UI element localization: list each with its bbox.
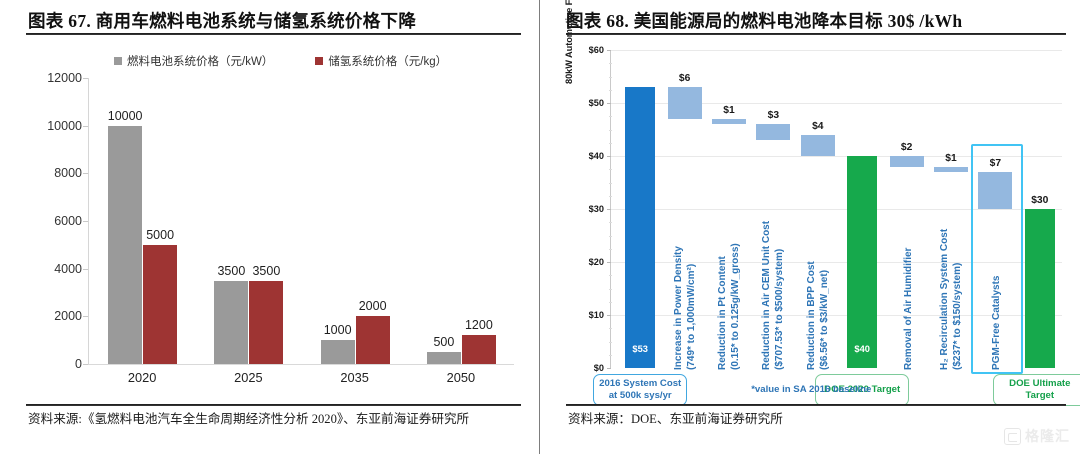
waterfall-footer-box: 2016 System Cost at 500k sys/yr — [593, 374, 687, 406]
bar-value-label: 500 — [433, 335, 454, 349]
y-tick-mark-67 — [83, 364, 88, 365]
legend-swatch-fuelcell — [114, 57, 122, 65]
y-minor-tick-68 — [609, 77, 612, 78]
y-tick-label-68: $50 — [566, 98, 604, 108]
step-description-line1: H₂ Recirculation System Cost — [939, 229, 950, 370]
y-axis-title-68: 80kW Automotive Fuel Cell System Cost [$… — [564, 0, 577, 84]
y-tick-mark-67 — [83, 269, 88, 270]
y-tick-label-67: 10000 — [47, 119, 82, 133]
bar: 3500 — [249, 281, 283, 364]
bar-value-label: 2000 — [359, 299, 387, 313]
left-title-rule — [26, 33, 521, 35]
bar-value-label: 1200 — [465, 318, 493, 332]
y-tick-label-67: 4000 — [54, 262, 82, 276]
y-minor-tick-68 — [609, 249, 612, 250]
bar: 2000 — [356, 316, 390, 364]
bar: 1000 — [321, 340, 355, 364]
waterfall-total-bar: $40 — [847, 156, 877, 368]
chart-68: 80kW Automotive Fuel Cell System Cost [$… — [566, 40, 1066, 400]
waterfall-value-label: $6 — [679, 73, 690, 84]
y-tick-mark-68 — [607, 368, 611, 369]
waterfall-step-bar: $1 — [712, 119, 746, 124]
y-tick-mark-67 — [83, 78, 88, 79]
waterfall-step-bar: $1 — [934, 167, 968, 172]
bar-value-label: 5000 — [146, 228, 174, 242]
bar-value-label: 3500 — [217, 264, 245, 278]
step-description-line2: ($237* to $150/system) — [952, 176, 965, 370]
bar-group: 10002000 — [321, 78, 390, 364]
bar-value-label: 3500 — [252, 264, 280, 278]
y-tick-label-67: 6000 — [54, 214, 82, 228]
bar: 5000 — [143, 245, 177, 364]
waterfall-step-bar: $3 — [756, 124, 790, 140]
y-tick-label-68: $40 — [566, 151, 604, 161]
step-description-line1: Increase in Power Density — [673, 246, 684, 370]
y-tick-mark-68 — [607, 262, 611, 263]
y-minor-tick-68 — [609, 328, 612, 329]
right-panel: 图表 68. 美国能源局的燃料电池降本目标 30$ /kWh 80kW Auto… — [540, 0, 1080, 454]
y-tick-label-67: 8000 — [54, 166, 82, 180]
right-footer-rule — [566, 404, 1066, 406]
legend-item-fuelcell: 燃料电池系统价格（元/kW） — [114, 53, 273, 69]
right-title-rule — [566, 33, 1066, 35]
y-tick-mark-67 — [83, 126, 88, 127]
step-description-line1: Removal of Air Humidifier — [903, 248, 914, 370]
y-tick-mark-68 — [607, 156, 611, 157]
y-minor-tick-68 — [609, 183, 612, 184]
bar: 3500 — [214, 281, 248, 364]
step-description-line2: ($6.56* to $3/kW_net) — [818, 160, 831, 370]
chart-67: 燃料电池系统价格（元/kW） 储氢系统价格（元/kg） 020004000600… — [26, 45, 526, 395]
step-description-line2: (0.15* to 0.125g/kW_gross) — [730, 128, 743, 370]
waterfall-total-bar: $53 — [625, 87, 655, 368]
waterfall-step-bar: $6 — [668, 87, 702, 119]
y-axis-line-67 — [88, 78, 89, 364]
left-footer-rule — [26, 404, 521, 406]
y-tick-mark-68 — [607, 209, 611, 210]
waterfall-step-bar: $2 — [890, 156, 924, 167]
legend-swatch-hydrogen — [315, 57, 323, 65]
y-minor-tick-68 — [609, 302, 612, 303]
y-minor-tick-68 — [609, 90, 612, 91]
watermark: 格隆汇 — [1004, 426, 1070, 446]
y-minor-tick-68 — [609, 236, 612, 237]
y-minor-tick-68 — [609, 143, 612, 144]
bar-group: 100005000 — [108, 78, 177, 364]
y-tick-label-68: $10 — [566, 310, 604, 320]
y-minor-tick-68 — [609, 116, 612, 117]
x-tick-label-67: 2035 — [340, 370, 368, 385]
y-minor-tick-68 — [609, 222, 612, 223]
y-tick-mark-67 — [83, 316, 88, 317]
bar-group: 5001200 — [427, 78, 496, 364]
y-tick-mark-68 — [607, 315, 611, 316]
left-chart-title: 图表 67. 商用车燃料电池系统与储氢系统价格下降 — [28, 8, 416, 33]
y-minor-tick-68 — [609, 169, 612, 170]
waterfall-total-bar: $30 — [1025, 209, 1055, 368]
y-tick-mark-68 — [607, 103, 611, 104]
waterfall-value-label: $30 — [1031, 195, 1048, 206]
y-minor-tick-68 — [609, 342, 612, 343]
watermark-logo-icon — [1004, 428, 1021, 445]
waterfall-value-label: $3 — [768, 110, 779, 121]
baseline-note-68: *value in SA 2016 baseline — [751, 384, 871, 395]
x-tick-label-67: 2025 — [234, 370, 262, 385]
step-description-line1: Reduction in Air CEM Unit Cost — [761, 221, 772, 370]
y-tick-mark-68 — [607, 50, 611, 51]
bar-value-label: 10000 — [108, 109, 143, 123]
waterfall-step-description: H₂ Recirculation System Cost($237* to $1… — [939, 176, 964, 370]
y-minor-tick-68 — [609, 63, 612, 64]
y-tick-label-67: 12000 — [47, 71, 82, 85]
bar: 10000 — [108, 126, 142, 364]
bar: 500 — [427, 352, 461, 364]
y-minor-tick-68 — [609, 289, 612, 290]
y-tick-mark-67 — [83, 173, 88, 174]
right-source-note: 资料来源：DOE、东亚前海证券研究所 — [568, 410, 1056, 430]
gridline-68 — [610, 50, 1062, 51]
legend-label-hydrogen: 储氢系统价格（元/kg） — [328, 53, 447, 69]
step-description-line1: Reduction in Pt Content — [717, 256, 728, 370]
y-minor-tick-68 — [609, 196, 612, 197]
y-tick-label-67: 0 — [75, 357, 82, 371]
watermark-text: 格隆汇 — [1025, 426, 1070, 446]
y-minor-tick-68 — [609, 275, 612, 276]
waterfall-step-description: Reduction in BPP Cost($6.56* to $3/kW_ne… — [806, 160, 831, 370]
x-tick-label-67: 2050 — [447, 370, 475, 385]
waterfall-value-label: $4 — [812, 121, 823, 132]
waterfall-step-description: Increase in Power Density(749* to 1,000m… — [673, 123, 698, 370]
legend-label-fuelcell: 燃料电池系统价格（元/kW） — [127, 53, 273, 69]
waterfall-footer-box: DOE Ultimate Target — [993, 374, 1080, 406]
waterfall-value-label: $40 — [854, 344, 870, 354]
y-tick-label-67: 2000 — [54, 309, 82, 323]
y-tick-label-68: $60 — [566, 45, 604, 55]
left-source-note: 资料来源:《氢燃料电池汽车全生命周期经济性分析 2020》、东亚前海证券研究所 — [28, 410, 516, 430]
waterfall-step-description: PGM-Free Catalysts — [991, 213, 1004, 370]
waterfall-value-label: $2 — [901, 142, 912, 153]
bar: 1200 — [462, 335, 496, 364]
step-description-line2: (749* to 1,000mW/cm²) — [685, 123, 698, 370]
y-tick-label-68: $0 — [566, 363, 604, 373]
waterfall-value-label: $53 — [632, 344, 648, 354]
waterfall-value-label: $1 — [723, 105, 734, 116]
y-tick-label-68: $30 — [566, 204, 604, 214]
y-tick-mark-67 — [83, 221, 88, 222]
x-tick-label-67: 2020 — [128, 370, 156, 385]
waterfall-step-description: Removal of Air Humidifier — [903, 171, 916, 370]
y-minor-tick-68 — [609, 130, 612, 131]
step-description-line2: ($707.53* to $500/system) — [774, 144, 787, 370]
y-tick-label-68: $20 — [566, 257, 604, 267]
step-description-line1: PGM-Free Catalysts — [991, 276, 1002, 370]
waterfall-step-description: Reduction in Air CEM Unit Cost($707.53* … — [761, 144, 786, 370]
bar-group: 35003500 — [214, 78, 283, 364]
y-minor-tick-68 — [609, 355, 612, 356]
right-chart-title: 图表 68. 美国能源局的燃料电池降本目标 30$ /kWh — [566, 8, 962, 33]
left-panel: 图表 67. 商用车燃料电池系统与储氢系统价格下降 燃料电池系统价格（元/kW）… — [0, 0, 539, 454]
waterfall-step-description: Reduction in Pt Content(0.15* to 0.125g/… — [717, 128, 742, 370]
legend-67: 燃料电池系统价格（元/kW） 储氢系统价格（元/kg） — [114, 53, 514, 69]
bar-value-label: 1000 — [324, 323, 352, 337]
figure-page: 图表 67. 商用车燃料电池系统与储氢系统价格下降 燃料电池系统价格（元/kW）… — [0, 0, 1080, 454]
waterfall-step-bar: $4 — [801, 135, 835, 156]
waterfall-value-label: $1 — [945, 153, 956, 164]
legend-item-hydrogen: 储氢系统价格（元/kg） — [315, 53, 447, 69]
step-description-line1: Reduction in BPP Cost — [806, 261, 817, 370]
x-axis-line-67 — [88, 364, 514, 365]
